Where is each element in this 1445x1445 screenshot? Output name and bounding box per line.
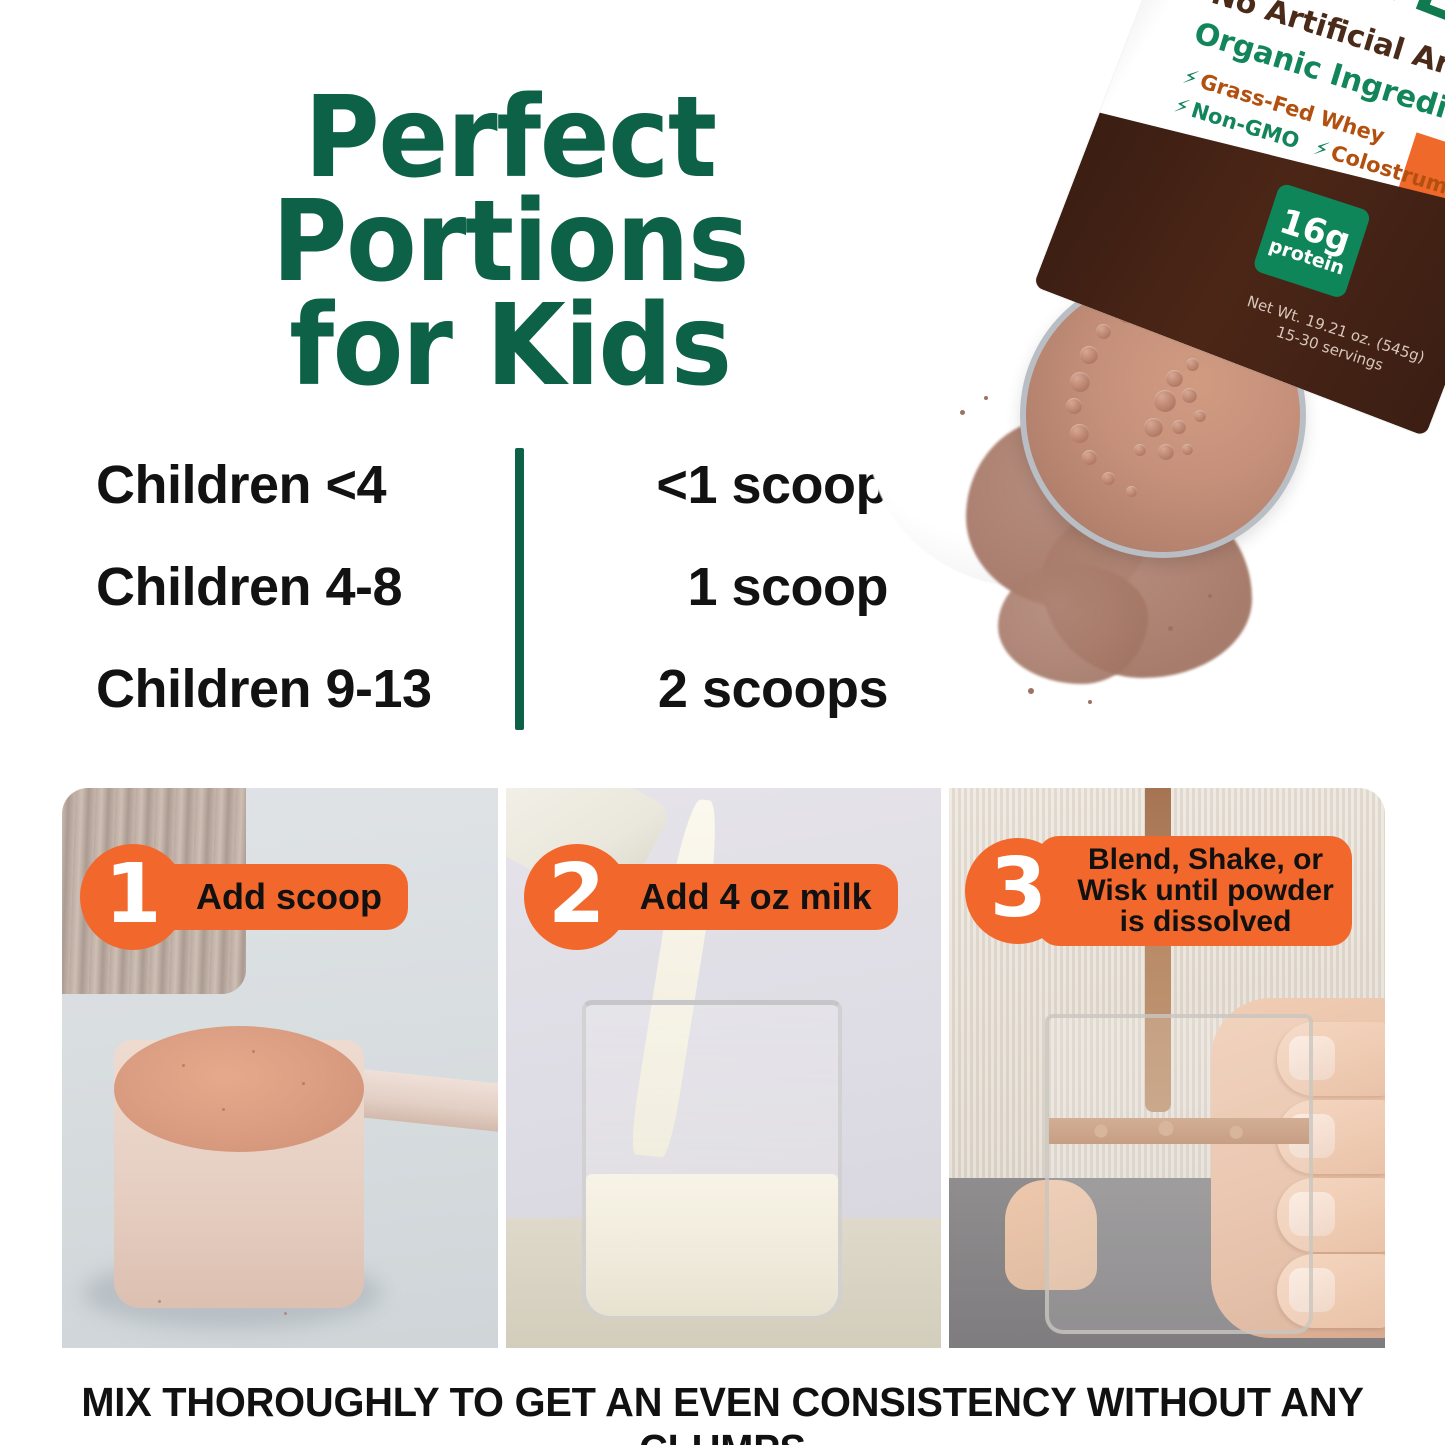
dosage-age-row-3: Children 9-13 — [96, 658, 432, 720]
step-number-2: 2 — [548, 854, 605, 936]
shake-in-cup — [1049, 1118, 1309, 1330]
footer-caption: MIX THOROUGHLY TO GET AN EVEN CONSISTENC… — [22, 1379, 1424, 1445]
scoop-powder — [114, 1026, 364, 1152]
step-badge-3: 3 Blend, Shake, or Wisk until powder is … — [965, 836, 1351, 946]
step-number-circle-3: 3 — [965, 838, 1071, 944]
powder-fleck — [1028, 688, 1034, 694]
page-title: Perfect Portions for Kids — [95, 86, 925, 398]
steps-panel-row: 1 Add scoop 2 Add 4 oz milk — [62, 788, 1385, 1348]
step-label-pill-1: Add scoop — [152, 864, 408, 930]
dosage-age-column: Children <4 Children 4-8 Children 9-13 — [96, 448, 515, 730]
bubble — [1070, 372, 1090, 392]
step-label-1: Add scoop — [196, 878, 382, 915]
powder-grain — [182, 1064, 185, 1067]
bubble — [1070, 424, 1089, 443]
step-number-circle-2: 2 — [524, 844, 630, 950]
bubble — [1194, 410, 1206, 422]
step-label-2: Add 4 oz milk — [640, 878, 872, 915]
dosage-amount-row-2: 1 scoop — [687, 556, 888, 618]
bubble — [1080, 346, 1098, 364]
step-number-1: 1 — [104, 854, 161, 936]
powder-grain — [302, 1082, 305, 1085]
step-panel-3: 3 Blend, Shake, or Wisk until powder is … — [949, 788, 1385, 1348]
dosage-amount-row-3: 2 scoops — [658, 658, 888, 720]
infographic-root: Perfect Portions for Kids Children <4 Ch… — [0, 0, 1445, 1445]
powder-grain — [222, 1108, 225, 1111]
powder-fleck — [960, 410, 965, 415]
bubble — [1082, 450, 1097, 465]
bubble — [1186, 358, 1199, 371]
dosage-table: Children <4 Children 4-8 Children 9-13 <… — [96, 448, 916, 730]
step-badge-1: 1 Add scoop — [80, 844, 408, 950]
step-panel-1: 1 Add scoop — [62, 788, 498, 1348]
shake-foam — [1049, 1118, 1309, 1144]
dosage-amount-row-1: <1 scoop — [656, 454, 888, 516]
powder-grain — [252, 1050, 255, 1053]
bubble — [1158, 444, 1174, 460]
bubble — [1102, 472, 1115, 485]
bubble — [1154, 390, 1176, 412]
bubble — [1166, 370, 1183, 387]
powder-grain — [158, 1300, 161, 1303]
powder-fleck — [1208, 594, 1212, 598]
bubble — [1182, 444, 1193, 455]
dosage-age-row-2: Children 4-8 — [96, 556, 402, 618]
bubble — [1172, 420, 1186, 434]
bubble — [1182, 388, 1197, 403]
bubble — [1066, 398, 1082, 414]
milk-in-glass — [586, 1174, 838, 1316]
product-hero-image: KIDS PROTEIN No Artificial Anything Orga… — [860, 0, 1445, 776]
bubble — [1126, 486, 1137, 497]
powder-grain — [284, 1312, 287, 1315]
title-line-2: for Kids — [128, 294, 892, 398]
bubble — [1134, 444, 1146, 456]
step-number-3: 3 — [990, 848, 1047, 930]
bubble — [1144, 418, 1163, 437]
plastic-cup — [1045, 1014, 1313, 1334]
step-panel-2: 2 Add 4 oz milk — [506, 788, 942, 1348]
table-divider — [515, 448, 524, 730]
step-label-3: Blend, Shake, or Wisk until powder is di… — [1077, 844, 1333, 938]
bubble — [1096, 324, 1111, 339]
powder-fleck — [1168, 626, 1173, 631]
powder-fleck — [1088, 700, 1092, 704]
step-label-pill-3: Blend, Shake, or Wisk until powder is di… — [1037, 836, 1351, 946]
powder-fleck — [984, 396, 988, 400]
step-badge-2: 2 Add 4 oz milk — [524, 844, 898, 950]
powder-blob — [998, 564, 1148, 684]
step-number-circle-1: 1 — [80, 844, 186, 950]
title-line-1: Perfect Portions — [128, 86, 892, 294]
step-label-pill-2: Add 4 oz milk — [596, 864, 898, 930]
dosage-age-row-1: Children <4 — [96, 454, 386, 516]
